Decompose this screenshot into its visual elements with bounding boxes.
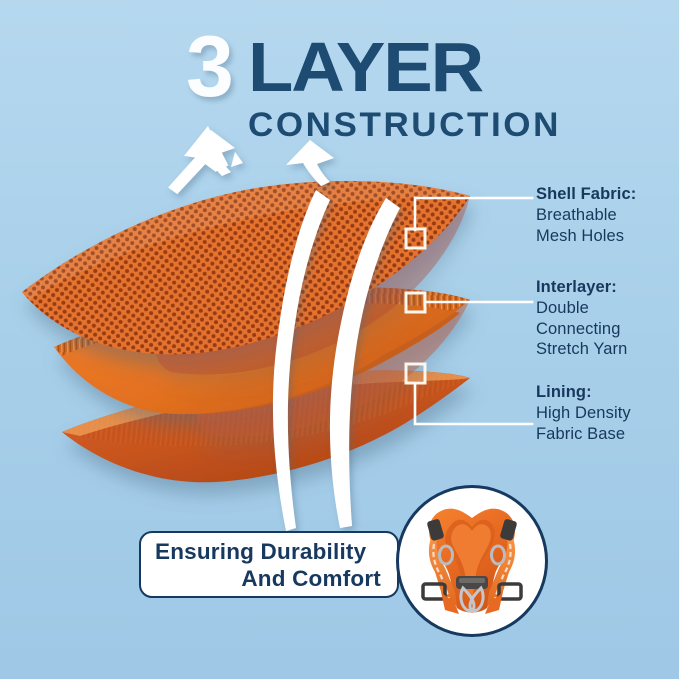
- tagline-box: Ensuring Durability And Comfort: [139, 531, 399, 598]
- title-number: 3: [186, 24, 232, 110]
- product-image-circle: [396, 485, 548, 637]
- callout-interlayer: Interlayer: Double Connecting Stretch Ya…: [536, 277, 679, 360]
- callout-heading: Shell Fabric:: [536, 184, 679, 205]
- callout-lining: Lining: High Density Fabric Base: [536, 382, 679, 444]
- callout-line-1: Breathable: [536, 205, 679, 226]
- callout-shell-fabric: Shell Fabric: Breathable Mesh Holes: [536, 184, 679, 246]
- callout-line-2: Mesh Holes: [536, 226, 679, 247]
- callout-heading: Lining:: [536, 382, 679, 403]
- callout-line-2: Connecting: [536, 319, 679, 340]
- callout-line-1: Double: [536, 298, 679, 319]
- page-title: 3 LAYER CONSTRUCTION: [0, 28, 679, 138]
- title-main-word: LAYER: [248, 32, 482, 102]
- callout-line-1: High Density: [536, 403, 679, 424]
- title-sub-word: CONSTRUCTION: [248, 108, 561, 142]
- orange-dog-harness-icon: [399, 488, 545, 634]
- infographic-page: 3 LAYER CONSTRUCTION Shell Fabric: Breat…: [0, 0, 679, 679]
- callout-line-2: Fabric Base: [536, 424, 679, 445]
- callout-line-3: Stretch Yarn: [536, 339, 679, 360]
- tagline-line-1: Ensuring Durability: [155, 538, 381, 565]
- tagline-line-2: And Comfort: [155, 565, 381, 592]
- callout-heading: Interlayer:: [536, 277, 679, 298]
